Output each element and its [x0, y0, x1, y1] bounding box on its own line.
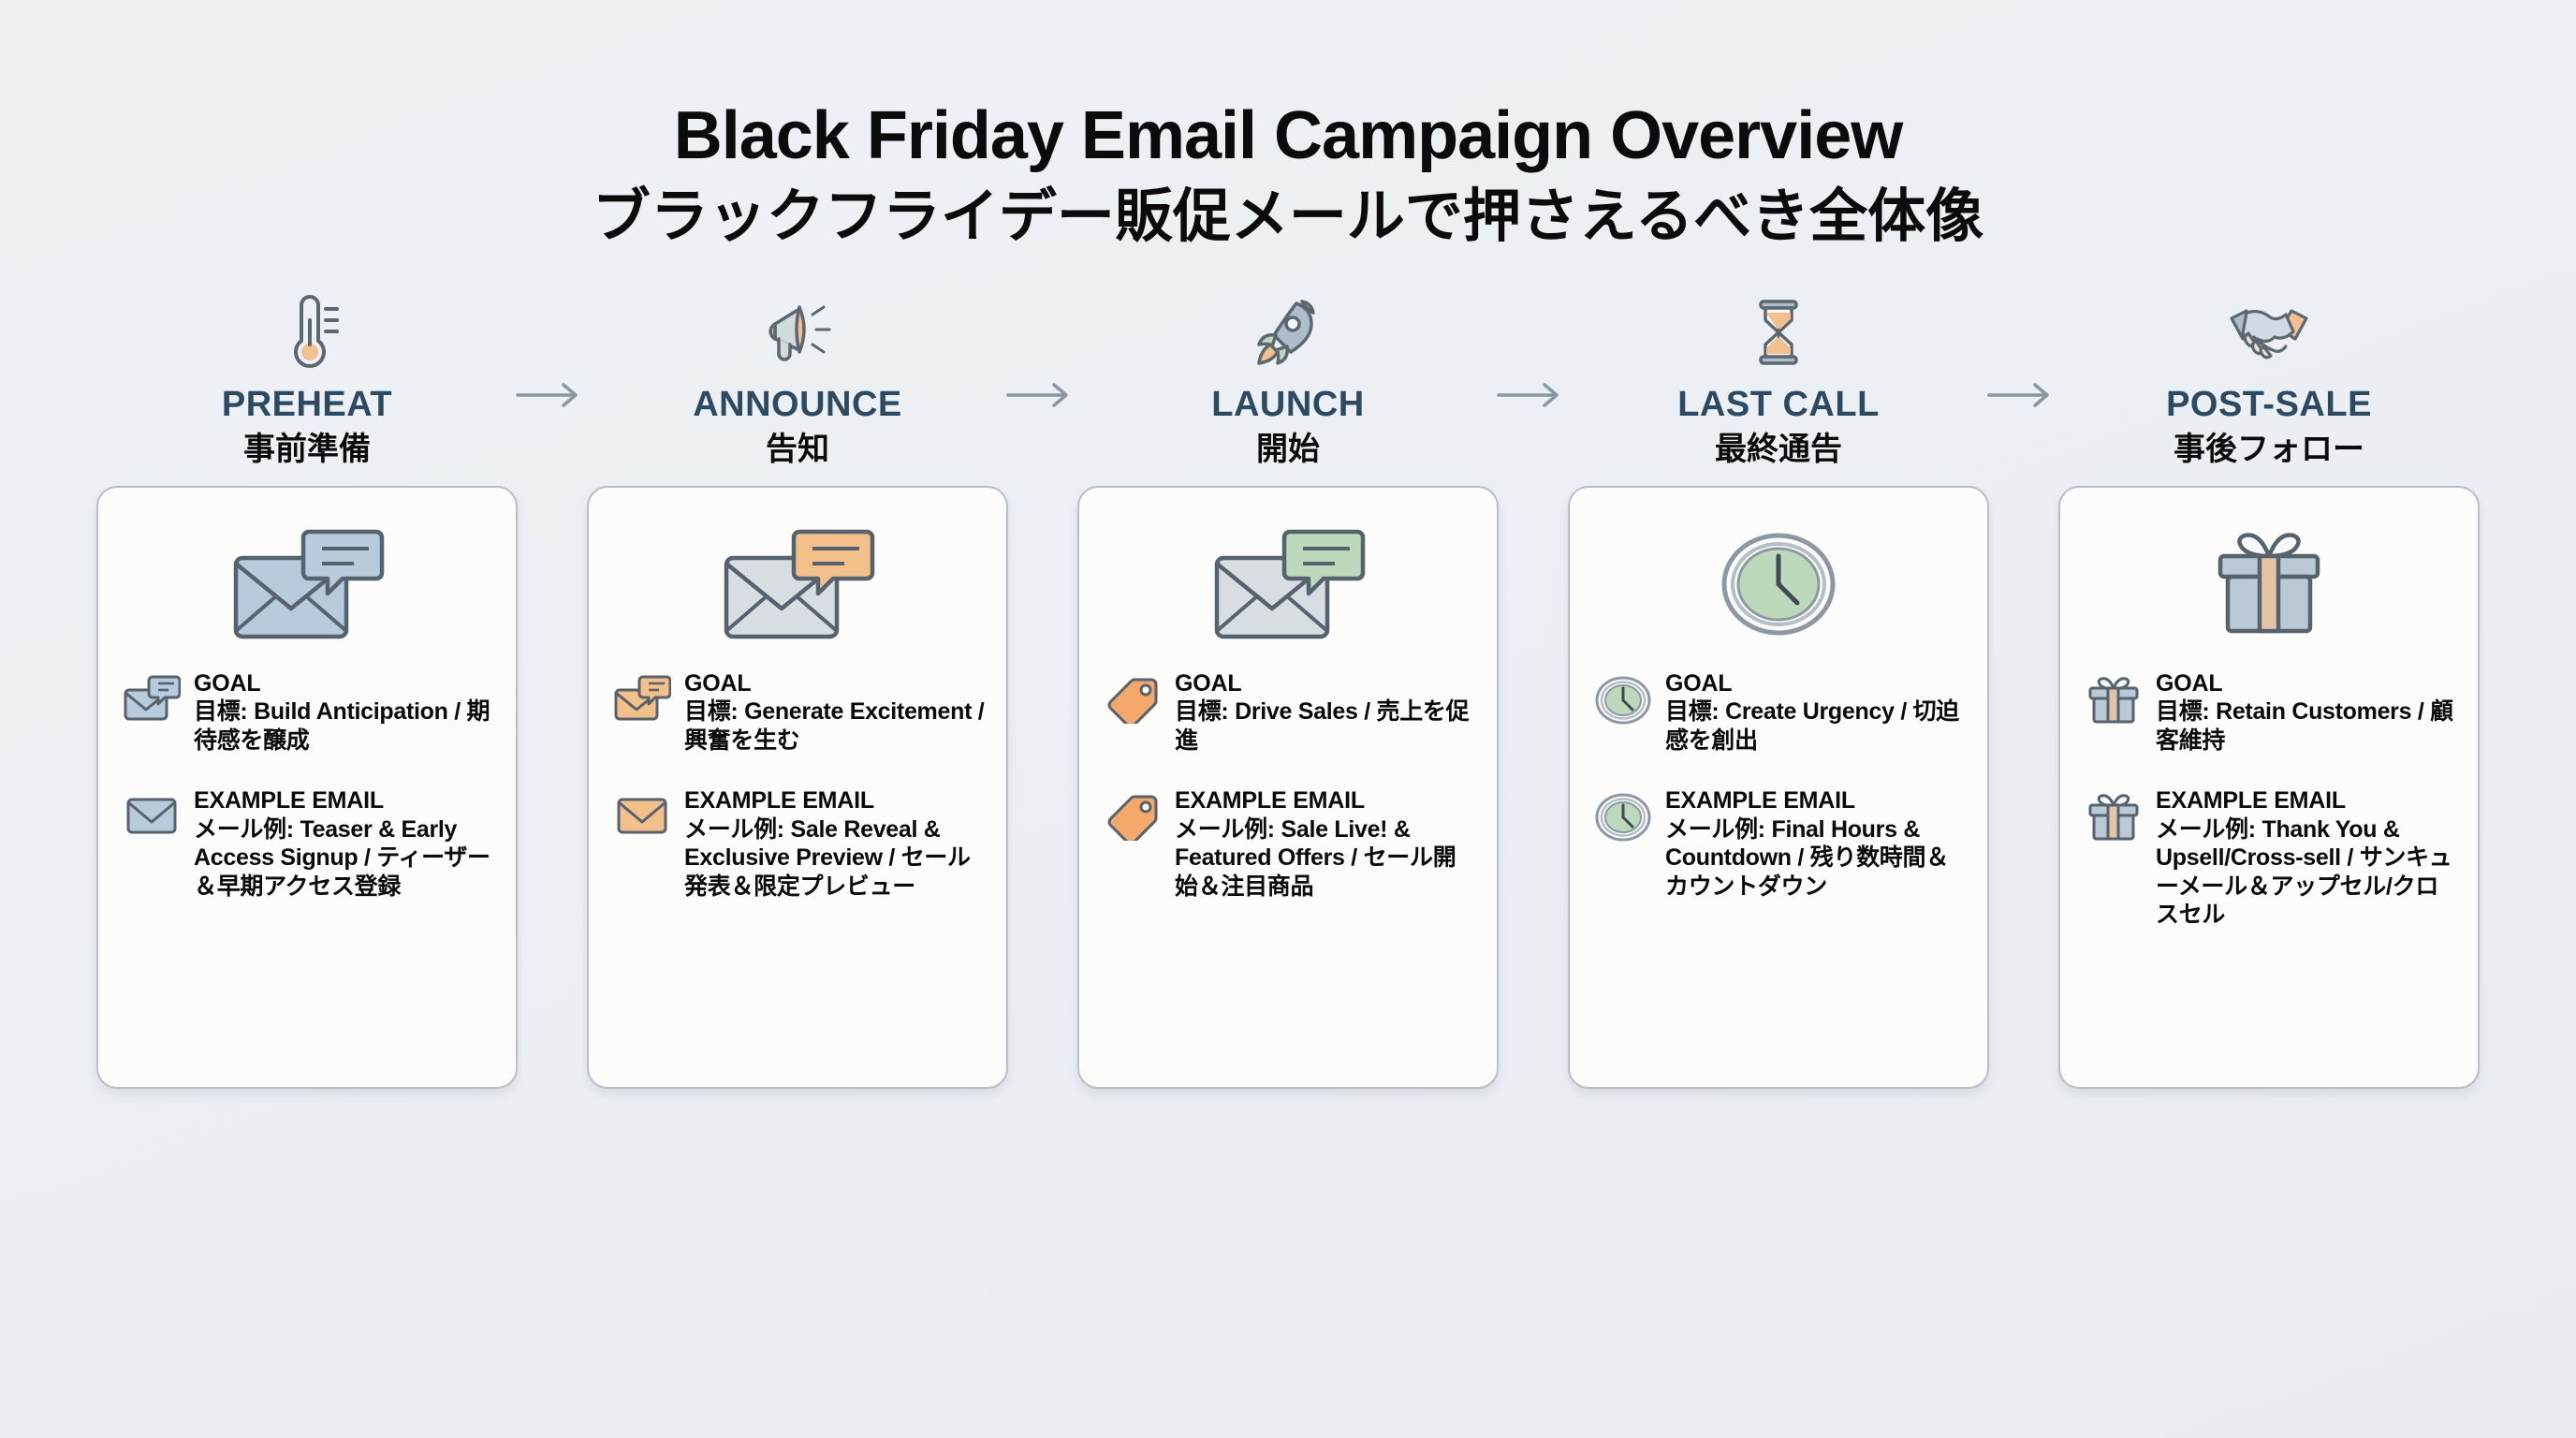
goal-kicker: GOAL	[2156, 669, 2457, 698]
goal-description-post-sale: 目標: Retain Customers / 顧客維持	[2156, 697, 2457, 755]
clock-green-icon	[1594, 786, 1652, 839]
gift-box-icon	[2085, 669, 2143, 722]
example-kicker: EXAMPLE EMAIL	[684, 786, 986, 815]
stage-header-row: PREHEAT 事前準備	[0, 292, 2576, 467]
page-title-japanese: ブラックフライデー販促メールで押さえるべき全体像	[0, 185, 2576, 249]
price-tag-orange-icon	[1104, 786, 1162, 839]
card-spacer	[1008, 486, 1077, 1089]
rocket-icon	[1248, 292, 1328, 373]
example-text-block-announce: EXAMPLE EMAIL メール例: Sale Reveal & Exclus…	[684, 786, 986, 901]
card-body-post-sale: GOAL 目標: Retain Customers / 顧客維持	[2081, 669, 2457, 1070]
stage-header-preheat: PREHEAT 事前準備	[96, 292, 518, 467]
stage-header-post-sale: POST-SALE 事後フォロー	[2058, 292, 2480, 467]
example-email-item-announce: EXAMPLE EMAIL メール例: Sale Reveal & Exclus…	[613, 786, 986, 901]
card-body-preheat: GOAL 目標: Build Anticipation / 期待感を醸成	[119, 669, 495, 1070]
card-slot-post-sale: GOAL 目標: Retain Customers / 顧客維持	[2058, 486, 2480, 1089]
stage-card-preheat[interactable]: GOAL 目標: Build Anticipation / 期待感を醸成	[96, 486, 518, 1089]
stage-card-launch[interactable]: GOAL 目標: Drive Sales / 売上を促進	[1077, 486, 1499, 1089]
stage-card-announce[interactable]: GOAL 目標: Generate Excitement / 興奮を生む	[587, 486, 1008, 1089]
stage-label-ja-launch: 開始	[1256, 433, 1320, 467]
example-email-item-launch: EXAMPLE EMAIL メール例: Sale Live! & Feature…	[1104, 786, 1476, 901]
stage-card-post-sale[interactable]: GOAL 目標: Retain Customers / 顧客維持	[2058, 486, 2480, 1089]
stage-label-en-preheat: PREHEAT	[222, 386, 392, 425]
card-slot-last-call: GOAL 目標: Create Urgency / 切迫感を創出	[1568, 486, 1989, 1089]
card-spacer	[1989, 486, 2058, 1089]
arrow-connector-icon	[518, 381, 587, 467]
example-kicker: EXAMPLE EMAIL	[1665, 786, 1967, 815]
stage-header-last-call: LAST CALL 最終通告	[1568, 292, 1989, 467]
stage-label-ja-preheat: 事前準備	[243, 433, 371, 467]
page-header: Black Friday Email Campaign Overview ブラッ…	[0, 0, 2576, 249]
thermometer-icon	[273, 292, 341, 373]
goal-text-block-post-sale: GOAL 目標: Retain Customers / 顧客維持	[2156, 669, 2457, 756]
envelope-blue-icon	[123, 786, 181, 839]
example-text-block-last-call: EXAMPLE EMAIL メール例: Final Hours & Countd…	[1665, 786, 1967, 901]
card-body-announce: GOAL 目標: Generate Excitement / 興奮を生む	[609, 669, 986, 1070]
arrow-connector-icon	[1008, 381, 1077, 467]
example-text-block-preheat: EXAMPLE EMAIL メール例: Teaser & Early Acces…	[194, 786, 495, 901]
envelope-bubble-orange-icon	[613, 669, 671, 722]
stage-label-en-announce: ANNOUNCE	[693, 386, 902, 425]
example-description-launch: メール例: Sale Live! & Featured Offers / セール…	[1175, 815, 1476, 902]
card-slot-preheat: GOAL 目標: Build Anticipation / 期待感を醸成	[96, 486, 518, 1089]
stage-label-en-last-call: LAST CALL	[1677, 386, 1880, 425]
goal-item-preheat: GOAL 目標: Build Anticipation / 期待感を醸成	[123, 669, 495, 756]
megaphone-icon	[754, 292, 841, 373]
example-email-item-last-call: EXAMPLE EMAIL メール例: Final Hours & Countd…	[1594, 786, 1967, 901]
example-kicker: EXAMPLE EMAIL	[1175, 786, 1476, 815]
example-text-block-post-sale: EXAMPLE EMAIL メール例: Thank You & Upsell/C…	[2156, 786, 2457, 930]
envelope-bubble-orange-icon	[719, 514, 876, 654]
example-email-item-preheat: EXAMPLE EMAIL メール例: Teaser & Early Acces…	[123, 786, 495, 901]
stage-label-en-launch: LAUNCH	[1211, 386, 1364, 425]
goal-description-last-call: 目標: Create Urgency / 切迫感を創出	[1665, 697, 1967, 755]
example-description-preheat: メール例: Teaser & Early Access Signup / ティー…	[194, 815, 495, 902]
card-body-launch: GOAL 目標: Drive Sales / 売上を促進	[1100, 669, 1476, 1070]
handshake-icon	[2222, 292, 2316, 373]
goal-item-post-sale: GOAL 目標: Retain Customers / 顧客維持	[2085, 669, 2457, 756]
gift-box-icon	[2207, 514, 2331, 654]
goal-description-launch: 目標: Drive Sales / 売上を促進	[1175, 697, 1476, 755]
goal-kicker: GOAL	[194, 669, 495, 698]
goal-kicker: GOAL	[1665, 669, 1967, 698]
goal-description-announce: 目標: Generate Excitement / 興奮を生む	[684, 697, 986, 755]
goal-text-block-last-call: GOAL 目標: Create Urgency / 切迫感を創出	[1665, 669, 1967, 756]
stage-header-launch: LAUNCH 開始	[1077, 292, 1499, 467]
goal-item-launch: GOAL 目標: Drive Sales / 売上を促進	[1104, 669, 1476, 756]
goal-kicker: GOAL	[684, 669, 986, 698]
envelope-bubble-blue-icon	[228, 514, 386, 654]
stage-label-ja-post-sale: 事後フォロー	[2173, 433, 2364, 467]
example-description-last-call: メール例: Final Hours & Countdown / 残り数時間＆カウ…	[1665, 815, 1967, 902]
arrow-connector-icon	[1499, 381, 1568, 467]
stage-cards-row: GOAL 目標: Build Anticipation / 期待感を醸成	[0, 486, 2576, 1089]
example-description-post-sale: メール例: Thank You & Upsell/Cross-sell / サン…	[2156, 815, 2457, 930]
stage-label-ja-announce: 告知	[766, 433, 829, 467]
card-spacer	[518, 486, 587, 1089]
clock-green-icon	[1719, 514, 1838, 654]
example-email-item-post-sale: EXAMPLE EMAIL メール例: Thank You & Upsell/C…	[2085, 786, 2457, 930]
stage-card-last-call[interactable]: GOAL 目標: Create Urgency / 切迫感を創出	[1568, 486, 1989, 1089]
example-kicker: EXAMPLE EMAIL	[2156, 786, 2457, 815]
goal-text-block-preheat: GOAL 目標: Build Anticipation / 期待感を醸成	[194, 669, 495, 756]
goal-kicker: GOAL	[1175, 669, 1476, 698]
envelope-orange-icon	[613, 786, 671, 839]
card-slot-announce: GOAL 目標: Generate Excitement / 興奮を生む	[587, 486, 1008, 1089]
gift-box-icon	[2085, 786, 2143, 839]
example-text-block-launch: EXAMPLE EMAIL メール例: Sale Live! & Feature…	[1175, 786, 1476, 901]
envelope-bubble-blue-icon	[123, 669, 181, 722]
card-slot-launch: GOAL 目標: Drive Sales / 売上を促進	[1077, 486, 1499, 1089]
goal-text-block-launch: GOAL 目標: Drive Sales / 売上を促進	[1175, 669, 1476, 756]
example-kicker: EXAMPLE EMAIL	[194, 786, 495, 815]
clock-green-icon	[1594, 669, 1652, 722]
goal-item-last-call: GOAL 目標: Create Urgency / 切迫感を創出	[1594, 669, 1967, 756]
hourglass-icon	[1748, 292, 1809, 373]
price-tag-orange-icon	[1104, 669, 1162, 722]
goal-description-preheat: 目標: Build Anticipation / 期待感を醸成	[194, 697, 495, 755]
stage-header-announce: ANNOUNCE 告知	[587, 292, 1008, 467]
stage-label-en-post-sale: POST-SALE	[2166, 386, 2372, 425]
stage-label-ja-last-call: 最終通告	[1715, 433, 1842, 467]
card-spacer	[1499, 486, 1568, 1089]
card-body-last-call: GOAL 目標: Create Urgency / 切迫感を創出	[1590, 669, 1967, 1070]
example-description-announce: メール例: Sale Reveal & Exclusive Preview / …	[684, 815, 986, 902]
goal-item-announce: GOAL 目標: Generate Excitement / 興奮を生む	[613, 669, 986, 756]
envelope-bubble-green-icon	[1209, 514, 1367, 654]
arrow-connector-icon	[1989, 381, 2058, 467]
goal-text-block-announce: GOAL 目標: Generate Excitement / 興奮を生む	[684, 669, 986, 756]
page-title-english: Black Friday Email Campaign Overview	[0, 101, 2576, 172]
